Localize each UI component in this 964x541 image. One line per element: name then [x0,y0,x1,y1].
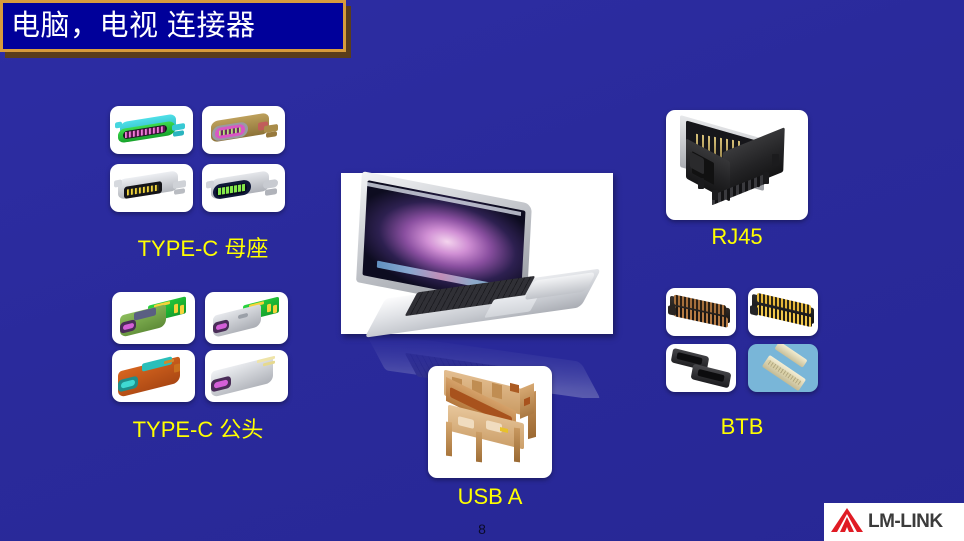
type-c-male-card-3[interactable] [112,350,195,402]
group-label-btb: BTB [666,414,818,440]
group-label-rj45: RJ45 [666,224,808,250]
btb-cream-strips-image [748,344,818,392]
rj45-card[interactable] [666,110,808,220]
btb-card-4[interactable] [748,344,818,392]
type-c-female-gray-green-image [202,164,285,212]
type-c-female-tan-pink-image [202,106,285,154]
btb-card-2[interactable] [748,288,818,336]
group-label-type-c-male: TYPE-C 公头 [95,412,301,444]
usb-a-card[interactable] [428,366,552,478]
company-logo: LM-LINK [824,503,964,541]
page-title: 电脑，电视 连接器 [3,12,256,41]
type-c-female-gray-gold-image [110,164,193,212]
btb-gold-pin-header-image [748,288,818,336]
type-c-female-card-4[interactable] [202,164,285,212]
page-number: 8 [0,521,964,537]
type-c-male-card-4[interactable] [205,350,288,402]
type-c-male-card-1[interactable] [112,292,195,344]
type-c-male-copper-image [112,350,195,402]
slide-title-box: 电脑，电视 连接器 [0,0,346,52]
slide-canvas: 电脑，电视 连接器 [0,0,964,541]
type-c-female-cyan-green-image [110,106,193,154]
group-label-usb-a: USB A [428,484,552,510]
rj45-jack-image [666,110,808,220]
type-c-male-card-2[interactable] [205,292,288,344]
laptop-photo-card[interactable] [341,173,613,334]
btb-black-sockets-image [666,344,736,392]
lm-link-mark-icon [830,507,864,538]
logo-text: LM-LINK [868,511,943,533]
type-c-male-green-image [112,292,195,344]
btb-card-3[interactable] [666,344,736,392]
group-label-type-c-female: TYPE-C 母座 [100,231,306,263]
btb-card-1[interactable] [666,288,736,336]
type-c-male-silver-image [205,350,288,402]
btb-copper-pin-header-image [666,288,736,336]
type-c-male-silver-pcb-image [205,292,288,344]
type-c-female-card-3[interactable] [110,164,193,212]
usb-a-dual-stack-image [428,366,552,478]
type-c-female-card-1[interactable] [110,106,193,154]
type-c-female-card-2[interactable] [202,106,285,154]
